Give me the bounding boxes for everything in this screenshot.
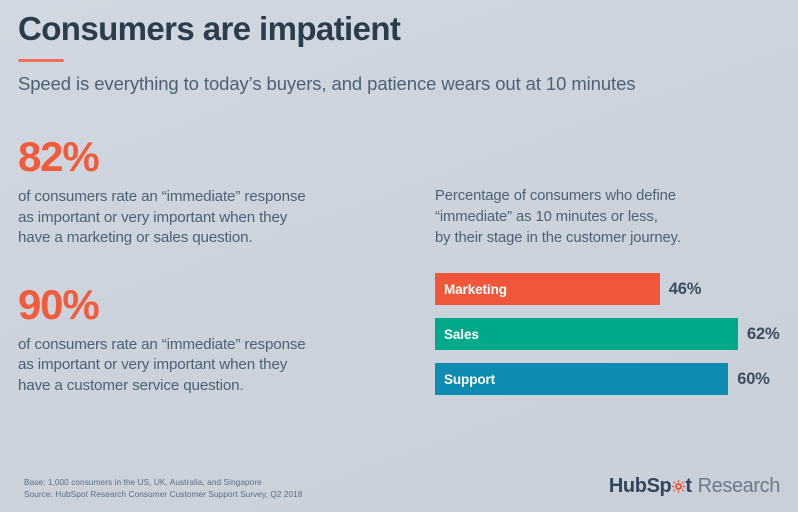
accent-rule-divider — [18, 59, 64, 62]
footnote-source: Source: HubSpot Research Consumer Custom… — [24, 489, 524, 501]
hubspot-sprocket-icon — [672, 480, 685, 493]
stat-percentage: 82% — [18, 133, 398, 181]
stat-percentage: 90% — [18, 281, 398, 329]
footnote-base: Base: 1,000 consumers in the US, UK, Aus… — [24, 477, 524, 489]
bar-support: Support — [435, 363, 728, 395]
stat-description: of consumers rate an “immediate” respons… — [18, 335, 398, 397]
hubspot-research-logo: HubSp t Research — [609, 475, 780, 498]
brand-hubspot-part1: HubSp — [609, 475, 671, 498]
bar-row: Support 60% — [435, 363, 785, 395]
footer-notes: Base: 1,000 consumers in the US, UK, Aus… — [24, 477, 524, 500]
page-title: Consumers are impatient — [18, 8, 780, 50]
bar-chart: Marketing 46% Sales 62% Support 60% — [435, 273, 785, 395]
stat-block: 82% of consumers rate an “immediate” res… — [18, 133, 398, 249]
bar-marketing: Marketing — [435, 273, 660, 305]
chart-caption: Percentage of consumers who define “imme… — [435, 186, 785, 249]
header: Consumers are impatient Speed is everyth… — [18, 8, 780, 96]
stat-block: 90% of consumers rate an “immediate” res… — [18, 281, 398, 397]
brand-hubspot-part2: t — [685, 475, 691, 498]
bar-label: Sales — [444, 327, 479, 342]
bar-label: Support — [444, 372, 495, 387]
bar-row: Sales 62% — [435, 318, 785, 350]
bar-value: 46% — [669, 280, 701, 299]
bar-value: 62% — [747, 325, 779, 344]
bar-value: 60% — [737, 370, 769, 389]
bar-sales: Sales — [435, 318, 738, 350]
bar-row: Marketing 46% — [435, 273, 785, 305]
brand-hubspot: HubSp t — [609, 475, 692, 498]
brand-research-word: Research — [698, 475, 780, 498]
page-subtitle: Speed is everything to today’s buyers, a… — [18, 72, 780, 96]
bar-label: Marketing — [444, 282, 507, 297]
statistics-column: 82% of consumers rate an “immediate” res… — [18, 133, 398, 396]
stat-description: of consumers rate an “immediate” respons… — [18, 187, 398, 249]
chart-column: Percentage of consumers who define “imme… — [435, 186, 785, 408]
infographic-slide: Consumers are impatient Speed is everyth… — [0, 0, 798, 512]
